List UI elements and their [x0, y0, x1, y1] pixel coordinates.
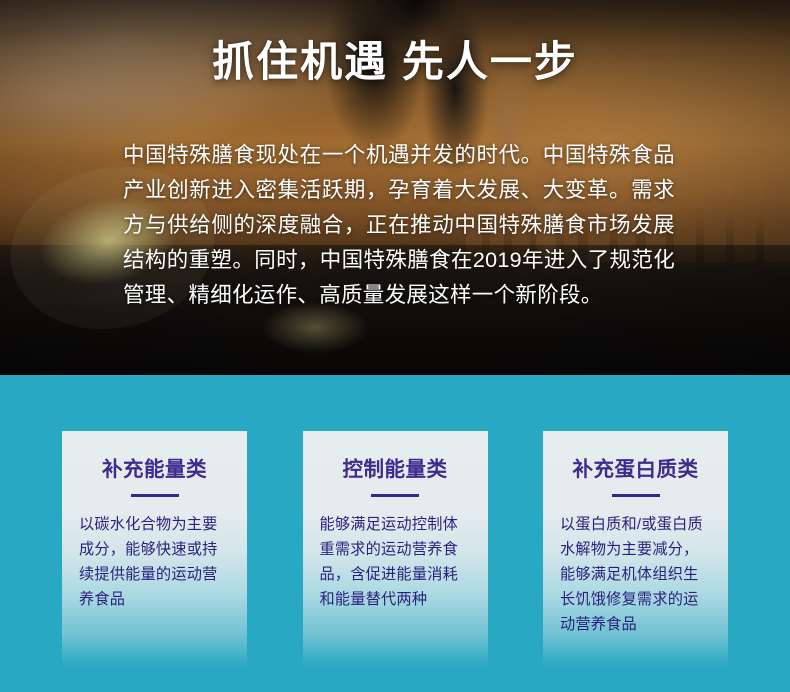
category-card-text: 以碳水化合物为主要成分，能够快速或持续提供能量的运动营养食品 [79, 512, 231, 612]
category-card[interactable]: 补充能量类 以碳水化合物为主要成分，能够快速或持续提供能量的运动营养食品 [62, 431, 247, 667]
promo-page: 抓住机遇 先人一步 中国特殊膳食现处在一个机遇并发的时代。中国特殊食品产业创新进… [0, 0, 790, 692]
category-card-text: 以蛋白质和/或蛋白质水解物为主要减分，能够满足机体组织生长饥饿修复需求的运动营养… [560, 512, 712, 637]
category-card-title: 补充能量类 [62, 452, 247, 482]
hero-banner: 抓住机遇 先人一步 中国特殊膳食现处在一个机遇并发的时代。中国特殊食品产业创新进… [0, 0, 790, 375]
hero-title: 抓住机遇 先人一步 [0, 38, 790, 86]
hero-paragraph: 中国特殊膳食现处在一个机遇并发的时代。中国特殊食品产业创新进入密集活跃期，孕育着… [123, 138, 675, 313]
category-card-title: 补充蛋白质类 [543, 452, 728, 482]
category-card-divider [131, 494, 179, 497]
category-panel: 补充能量类 以碳水化合物为主要成分，能够快速或持续提供能量的运动营养食品 控制能… [0, 375, 790, 692]
category-card-list: 补充能量类 以碳水化合物为主要成分，能够快速或持续提供能量的运动营养食品 控制能… [62, 431, 728, 667]
category-card-divider [612, 494, 660, 497]
category-card-text: 能够满足运动控制体重需求的运动营养食品，含促进能量消耗和能量替代两种 [320, 512, 472, 612]
category-card[interactable]: 补充蛋白质类 以蛋白质和/或蛋白质水解物为主要减分，能够满足机体组织生长饥饿修复… [543, 431, 728, 667]
hero-content: 抓住机遇 先人一步 中国特殊膳食现处在一个机遇并发的时代。中国特殊食品产业创新进… [0, 0, 790, 375]
category-card[interactable]: 控制能量类 能够满足运动控制体重需求的运动营养食品，含促进能量消耗和能量替代两种 [303, 431, 488, 667]
category-card-divider [371, 494, 419, 497]
category-card-title: 控制能量类 [303, 452, 488, 482]
